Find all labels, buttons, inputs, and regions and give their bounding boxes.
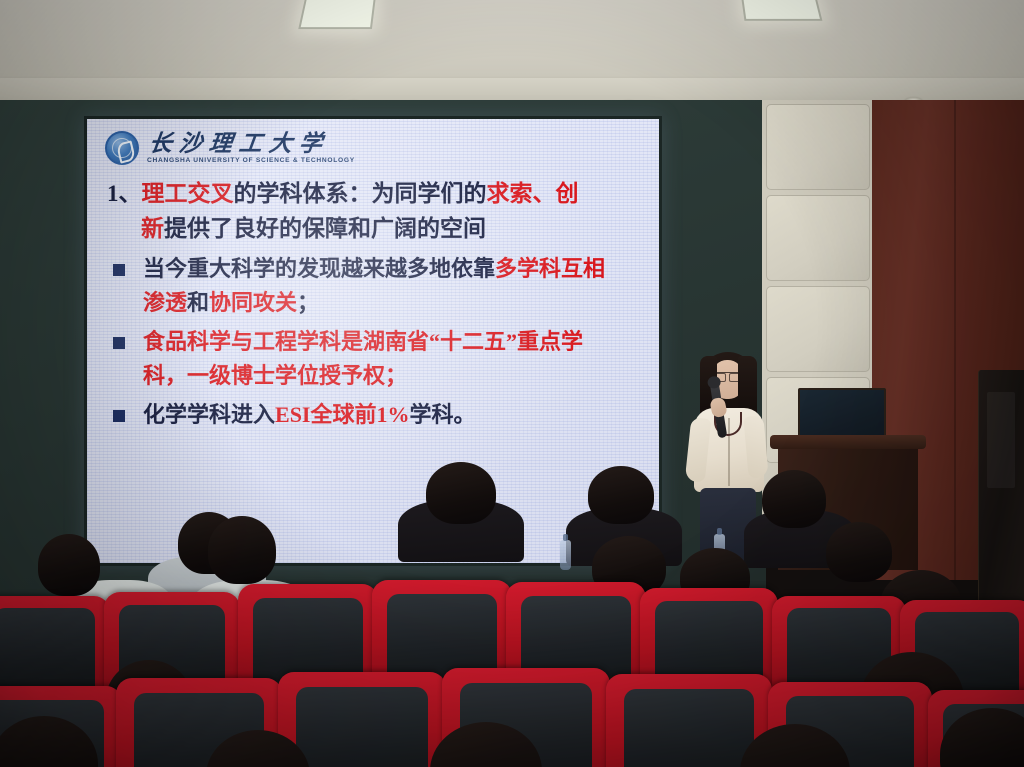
lecture-hall-photo: 长沙理工大学 CHANGSHA UNIVERSITY OF SCIENCE & …	[0, 0, 1024, 767]
bullet-3-text: 化学学科进入ESI全球前1%学科。	[143, 398, 476, 432]
ceiling-led-panel-left-icon	[298, 0, 376, 29]
bullet-1-dark-1: 当今重大科学的发现越来越多地依靠	[143, 256, 495, 281]
slide-title-mid: 的学科体系：为同学们的	[234, 181, 487, 206]
bullet-3-red-1: ESI全球前1%	[275, 402, 409, 427]
square-bullet-icon	[113, 264, 125, 276]
bullet-2-red-2: 科，一级博士学位授予权；	[143, 359, 583, 393]
acoustic-panel	[766, 286, 870, 372]
bullet-3-tail: 学科。	[410, 402, 476, 427]
attendee-head	[588, 466, 654, 524]
university-name-cn: 长沙理工大学	[148, 132, 355, 156]
acoustic-panel	[766, 195, 870, 281]
slide-title-red-2: 求索、创	[487, 181, 579, 206]
bullet-1-text: 当今重大科学的发现越来越多地依靠多学科互相 渗透和协同攻关；	[143, 252, 605, 320]
list-item: 当今重大科学的发现越来越多地依靠多学科互相 渗透和协同攻关；	[103, 252, 645, 320]
attendee-head	[38, 534, 100, 596]
ceiling-led-panel-right-icon	[740, 0, 823, 21]
bullet-2-red-1: 食品科学与工程学科是湖南省“十二五”重点学	[143, 329, 583, 354]
bullet-1-red-1: 多学科互相	[495, 256, 605, 281]
slide-logo-header: 长沙理工大学 CHANGSHA UNIVERSITY OF SCIENCE & …	[87, 119, 659, 169]
slide-title-line2-rest: 提供了良好的保障和广阔的空间	[164, 216, 486, 241]
slide-title-line2: 新提供了良好的保障和广阔的空间	[107, 212, 645, 247]
bullet-1-dark-2: 和	[187, 290, 209, 315]
square-bullet-icon	[113, 337, 125, 349]
bullet-2-text: 食品科学与工程学科是湖南省“十二五”重点学 科，一级博士学位授予权；	[143, 325, 583, 393]
seat	[640, 588, 778, 688]
attendee-head	[426, 462, 496, 524]
seat	[0, 596, 110, 692]
attendee-head	[762, 470, 826, 528]
slide-surface: 长沙理工大学 CHANGSHA UNIVERSITY OF SCIENCE & …	[87, 119, 659, 563]
acoustic-panel	[766, 104, 870, 190]
university-name-block: 长沙理工大学 CHANGSHA UNIVERSITY OF SCIENCE & …	[149, 132, 353, 165]
attendee-head	[208, 516, 276, 584]
bullet-1-red-3: 协同攻关	[209, 290, 297, 315]
university-name-en: CHANGSHA UNIVERSITY OF SCIENCE & TECHNOL…	[147, 158, 355, 165]
bullet-3-dark-1: 化学学科进入	[143, 402, 275, 427]
lectern-top	[770, 435, 926, 449]
presenter-arm-right	[743, 415, 768, 479]
bullet-1-line2: 渗透和协同攻关；	[143, 286, 605, 320]
university-seal-icon	[105, 131, 139, 165]
bullet-1-tail: ；	[297, 290, 319, 315]
slide-title-prefix: 1、	[107, 181, 142, 206]
projection-screen: 长沙理工大学 CHANGSHA UNIVERSITY OF SCIENCE & …	[84, 116, 662, 566]
water-bottle	[560, 540, 571, 570]
slide-title-red-3: 新	[141, 216, 164, 241]
loudspeaker-cabinet	[978, 370, 1024, 620]
attendee-head	[826, 522, 892, 582]
slide-title-red-1: 理工交叉	[142, 181, 234, 206]
list-item: 化学学科进入ESI全球前1%学科。	[103, 398, 645, 432]
slide-title: 1、理工交叉的学科体系：为同学们的求索、创 新提供了良好的保障和广阔的空间	[103, 177, 645, 247]
square-bullet-icon	[113, 410, 125, 422]
slide-body: 1、理工交叉的学科体系：为同学们的求索、创 新提供了良好的保障和广阔的空间 当今…	[87, 169, 659, 432]
bullet-1-red-2: 渗透	[143, 290, 187, 315]
list-item: 食品科学与工程学科是湖南省“十二五”重点学 科，一级博士学位授予权；	[103, 325, 645, 393]
